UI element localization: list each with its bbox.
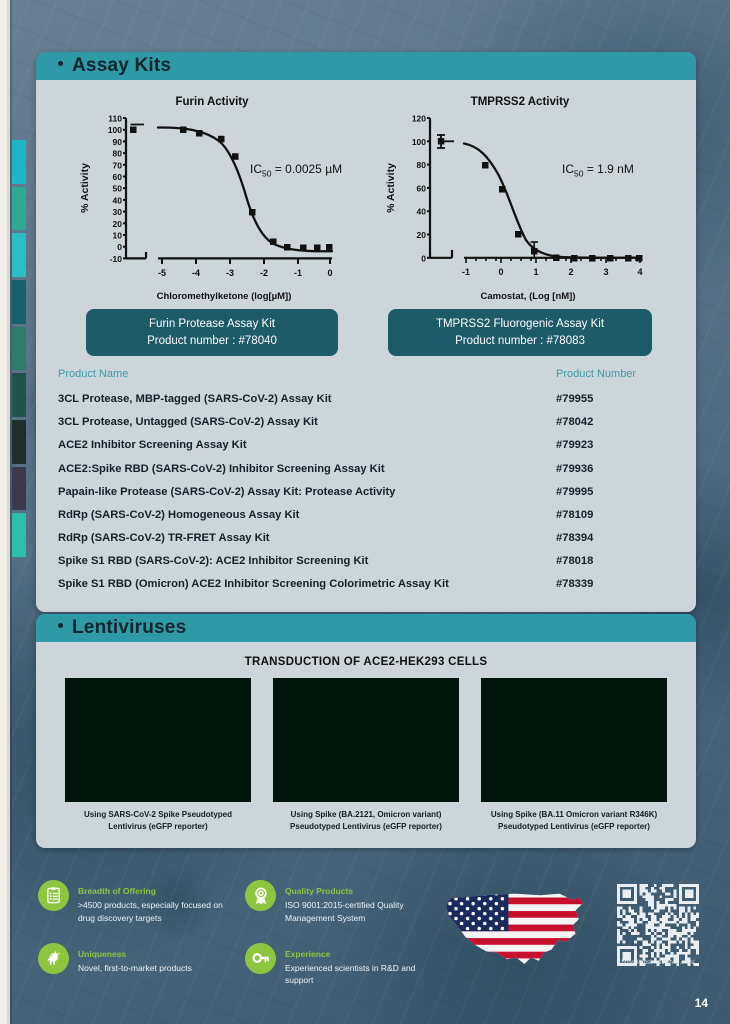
tmprss2-kit-pill[interactable]: TMPRSS2 Fluorogenic Assay Kit Product nu… — [388, 309, 652, 356]
svg-text:60: 60 — [113, 172, 123, 182]
furin-kit-number: Product number : #78040 — [96, 333, 328, 350]
svg-text:120: 120 — [412, 114, 426, 124]
feature-description: >4500 products, especially focused on dr… — [78, 899, 231, 925]
tmprss2-ic50-annotation: IC50 = 1.9 nM — [562, 162, 634, 178]
tmprss2-x-axis-label: Camostat, (Log [nM]) — [481, 291, 576, 302]
cell-product-name: RdRp (SARS-CoV-2) TR-FRET Assay Kit — [58, 526, 556, 549]
color-swatch-1 — [12, 187, 26, 231]
micrograph-panel: Using Spike (BA.2121, Omicron variant)Ps… — [273, 678, 459, 834]
product-table: Product Name Product Number 3CL Protease… — [58, 368, 674, 596]
feature-item: Breadth of Offering>4500 products, espec… — [38, 880, 231, 925]
svg-text:80: 80 — [113, 149, 123, 159]
qr-url-text: https://bpsbioscience.com/ — [604, 960, 712, 966]
unicorn-icon — [38, 943, 69, 974]
page-number: 14 — [695, 996, 708, 1010]
color-swatch-3 — [12, 280, 26, 324]
furin-kit-pill[interactable]: Furin Protease Assay Kit Product number … — [86, 309, 338, 356]
cell-product-number: #79995 — [556, 480, 674, 503]
furin-plot: 110 100 90 80 70 60 50 40 30 20 10 0 — [74, 110, 350, 290]
svg-text:60: 60 — [417, 183, 427, 193]
svg-text:4: 4 — [637, 267, 642, 277]
award-ribbon-icon — [245, 880, 276, 911]
svg-text:0: 0 — [327, 268, 332, 278]
micrograph-image — [273, 678, 459, 802]
tmprss2-chart-column: TMPRSS2 Activity 120 100 80 60 40 20 0 — [366, 92, 674, 356]
feature-item: ExperienceExperienced scientists in R&D … — [245, 943, 438, 988]
svg-text:40: 40 — [417, 207, 427, 217]
table-row[interactable]: Spike S1 RBD (SARS-CoV-2): ACE2 Inhibito… — [58, 550, 674, 573]
color-swatch-2 — [12, 233, 26, 277]
lentiviruses-card: Lentiviruses TRANSDUCTION OF ACE2-HEK293… — [36, 614, 696, 848]
svg-text:-1: -1 — [294, 268, 302, 278]
svg-text:20: 20 — [113, 219, 123, 229]
lentiviruses-header: Lentiviruses — [36, 614, 696, 642]
furin-x-axis-label: Chloromethylketone (log[µM]) — [157, 291, 292, 302]
cell-product-number: #78339 — [556, 573, 674, 596]
micrograph-row: Using SARS-CoV-2 Spike PseudotypedLentiv… — [36, 678, 696, 834]
color-swatch-7 — [12, 467, 26, 511]
bullet-icon — [58, 623, 63, 628]
color-swatch-6 — [12, 420, 26, 464]
micrograph-panel: Using Spike (BA.11 Omicron variant R346K… — [481, 678, 667, 834]
table-row[interactable]: Papain-like Protease (SARS-CoV-2) Assay … — [58, 480, 674, 503]
feature-description: Experienced scientists in R&D and suppor… — [285, 962, 438, 988]
assay-kits-header: Assay Kits — [36, 52, 696, 80]
table-row[interactable]: RdRp (SARS-CoV-2) Homogeneous Assay Kit#… — [58, 503, 674, 526]
tmprss2-kit-name: TMPRSS2 Fluorogenic Assay Kit — [398, 316, 642, 333]
svg-text:-5: -5 — [158, 268, 166, 278]
micrograph-image — [65, 678, 251, 802]
svg-text:0: 0 — [498, 267, 503, 277]
cell-product-name: Spike S1 RBD (SARS-CoV-2): ACE2 Inhibito… — [58, 550, 556, 573]
svg-text:% Activity: % Activity — [385, 163, 397, 213]
table-row[interactable]: 3CL Protease, MBP-tagged (SARS-CoV-2) As… — [58, 387, 674, 410]
charts-row: Furin Activity 110 100 90 80 70 60 50 — [58, 84, 674, 356]
clipboard-list-icon — [38, 880, 69, 911]
cell-product-name: Papain-like Protease (SARS-CoV-2) Assay … — [58, 480, 556, 503]
cell-product-name: RdRp (SARS-CoV-2) Homogeneous Assay Kit — [58, 503, 556, 526]
table-header-row: Product Name Product Number — [58, 368, 674, 387]
page-binding-edge — [0, 0, 12, 1024]
tmprss2-kit-number: Product number : #78083 — [398, 333, 642, 350]
feature-list: Breadth of Offering>4500 products, espec… — [38, 880, 438, 987]
svg-text:40: 40 — [113, 195, 123, 205]
color-swatch-4 — [12, 327, 26, 371]
furin-chart-svg: 110 100 90 80 70 60 50 40 30 20 10 0 — [74, 110, 350, 285]
feature-item: UniquenessNovel, first-to-market product… — [38, 943, 231, 988]
column-header-product-name: Product Name — [58, 368, 556, 387]
furin-chart-title: Furin Activity — [175, 96, 248, 108]
svg-text:110: 110 — [108, 114, 122, 124]
feature-description: ISO 9001:2015-certified Quality Manageme… — [285, 899, 438, 925]
assay-kits-card: Assay Kits Furin Activity 110 100 90 80 — [36, 52, 696, 612]
svg-text:20: 20 — [417, 230, 427, 240]
key-icon — [245, 943, 276, 974]
svg-text:100: 100 — [108, 125, 122, 135]
svg-text:50: 50 — [113, 184, 123, 194]
micrograph-image — [481, 678, 667, 802]
lentiviruses-body: TRANSDUCTION OF ACE2-HEK293 CELLS Using … — [36, 642, 696, 848]
qr-code-icon[interactable] — [617, 884, 699, 966]
table-row[interactable]: RdRp (SARS-CoV-2) TR-FRET Assay Kit#7839… — [58, 526, 674, 549]
assay-kits-body: Furin Activity 110 100 90 80 70 60 50 — [36, 80, 696, 612]
svg-text:0: 0 — [117, 242, 122, 252]
svg-text:100: 100 — [412, 137, 426, 147]
tmprss2-plot: 120 100 80 60 40 20 0 % Activity — [382, 110, 658, 290]
table-row[interactable]: 3CL Protease, Untagged (SARS-CoV-2) Assa… — [58, 411, 674, 434]
micrograph-panel: Using SARS-CoV-2 Spike PseudotypedLentiv… — [65, 678, 251, 834]
svg-text:80: 80 — [417, 160, 427, 170]
svg-text:% Activity: % Activity — [79, 163, 91, 213]
color-swatch-strip — [12, 140, 26, 560]
color-swatch-5 — [12, 373, 26, 417]
svg-text:1: 1 — [533, 267, 538, 277]
feature-title: Breadth of Offering — [78, 886, 156, 896]
feature-item: Quality ProductsISO 9001:2015-certified … — [245, 880, 438, 925]
svg-text:-4: -4 — [192, 268, 200, 278]
svg-text:2: 2 — [568, 267, 573, 277]
table-row[interactable]: Spike S1 RBD (Omicron) ACE2 Inhibitor Sc… — [58, 573, 674, 596]
feature-title: Uniqueness — [78, 949, 126, 959]
cell-product-number: #78042 — [556, 411, 674, 434]
cell-product-number: #79936 — [556, 457, 674, 480]
tmprss2-chart-title: TMPRSS2 Activity — [471, 96, 570, 108]
micrograph-caption: Using Spike (BA.2121, Omicron variant)Ps… — [273, 802, 459, 834]
cell-product-number: #79955 — [556, 387, 674, 410]
cell-product-name: 3CL Protease, Untagged (SARS-CoV-2) Assa… — [58, 411, 556, 434]
svg-text:-1: -1 — [462, 267, 470, 277]
furin-chart-column: Furin Activity 110 100 90 80 70 60 50 — [58, 92, 366, 356]
cell-product-number: #78109 — [556, 503, 674, 526]
cell-product-number: #79923 — [556, 434, 674, 457]
svg-text:0: 0 — [421, 253, 426, 263]
lentiviruses-title: Lentiviruses — [72, 617, 186, 639]
furin-ic50-annotation: IC50 = 0.0025 µM — [250, 162, 342, 178]
svg-text:3: 3 — [603, 267, 608, 277]
cell-product-name: Spike S1 RBD (Omicron) ACE2 Inhibitor Sc… — [58, 573, 556, 596]
color-swatch-0 — [12, 140, 26, 184]
usa-flag-map-icon — [438, 884, 598, 972]
svg-text:70: 70 — [113, 160, 123, 170]
svg-text:10: 10 — [113, 231, 123, 241]
table-row[interactable]: ACE2 Inhibitor Screening Assay Kit#79923 — [58, 434, 674, 457]
table-row[interactable]: ACE2:Spike RBD (SARS-CoV-2) Inhibitor Sc… — [58, 457, 674, 480]
feature-description: Novel, first-to-market products — [78, 962, 192, 975]
transduction-figure-title: TRANSDUCTION OF ACE2-HEK293 CELLS — [36, 642, 696, 678]
micrograph-caption: Using Spike (BA.11 Omicron variant R346K… — [481, 802, 667, 834]
svg-text:30: 30 — [113, 207, 123, 217]
cell-product-name: ACE2 Inhibitor Screening Assay Kit — [58, 434, 556, 457]
assay-kits-title: Assay Kits — [72, 55, 171, 77]
furin-kit-name: Furin Protease Assay Kit — [96, 316, 328, 333]
svg-text:-2: -2 — [260, 268, 268, 278]
color-swatch-8 — [12, 513, 26, 557]
bullet-icon — [58, 61, 63, 66]
feature-title: Quality Products — [285, 886, 353, 896]
cell-product-number: #78018 — [556, 550, 674, 573]
feature-title: Experience — [285, 949, 330, 959]
svg-text:-10: -10 — [110, 254, 123, 264]
cell-product-name: ACE2:Spike RBD (SARS-CoV-2) Inhibitor Sc… — [58, 457, 556, 480]
column-header-product-number: Product Number — [556, 368, 674, 387]
svg-text:90: 90 — [113, 137, 123, 147]
tmprss2-chart-svg: 120 100 80 60 40 20 0 % Activity — [382, 110, 658, 285]
micrograph-caption: Using SARS-CoV-2 Spike PseudotypedLentiv… — [65, 802, 251, 834]
cell-product-number: #78394 — [556, 526, 674, 549]
svg-text:-3: -3 — [226, 268, 234, 278]
cell-product-name: 3CL Protease, MBP-tagged (SARS-CoV-2) As… — [58, 387, 556, 410]
